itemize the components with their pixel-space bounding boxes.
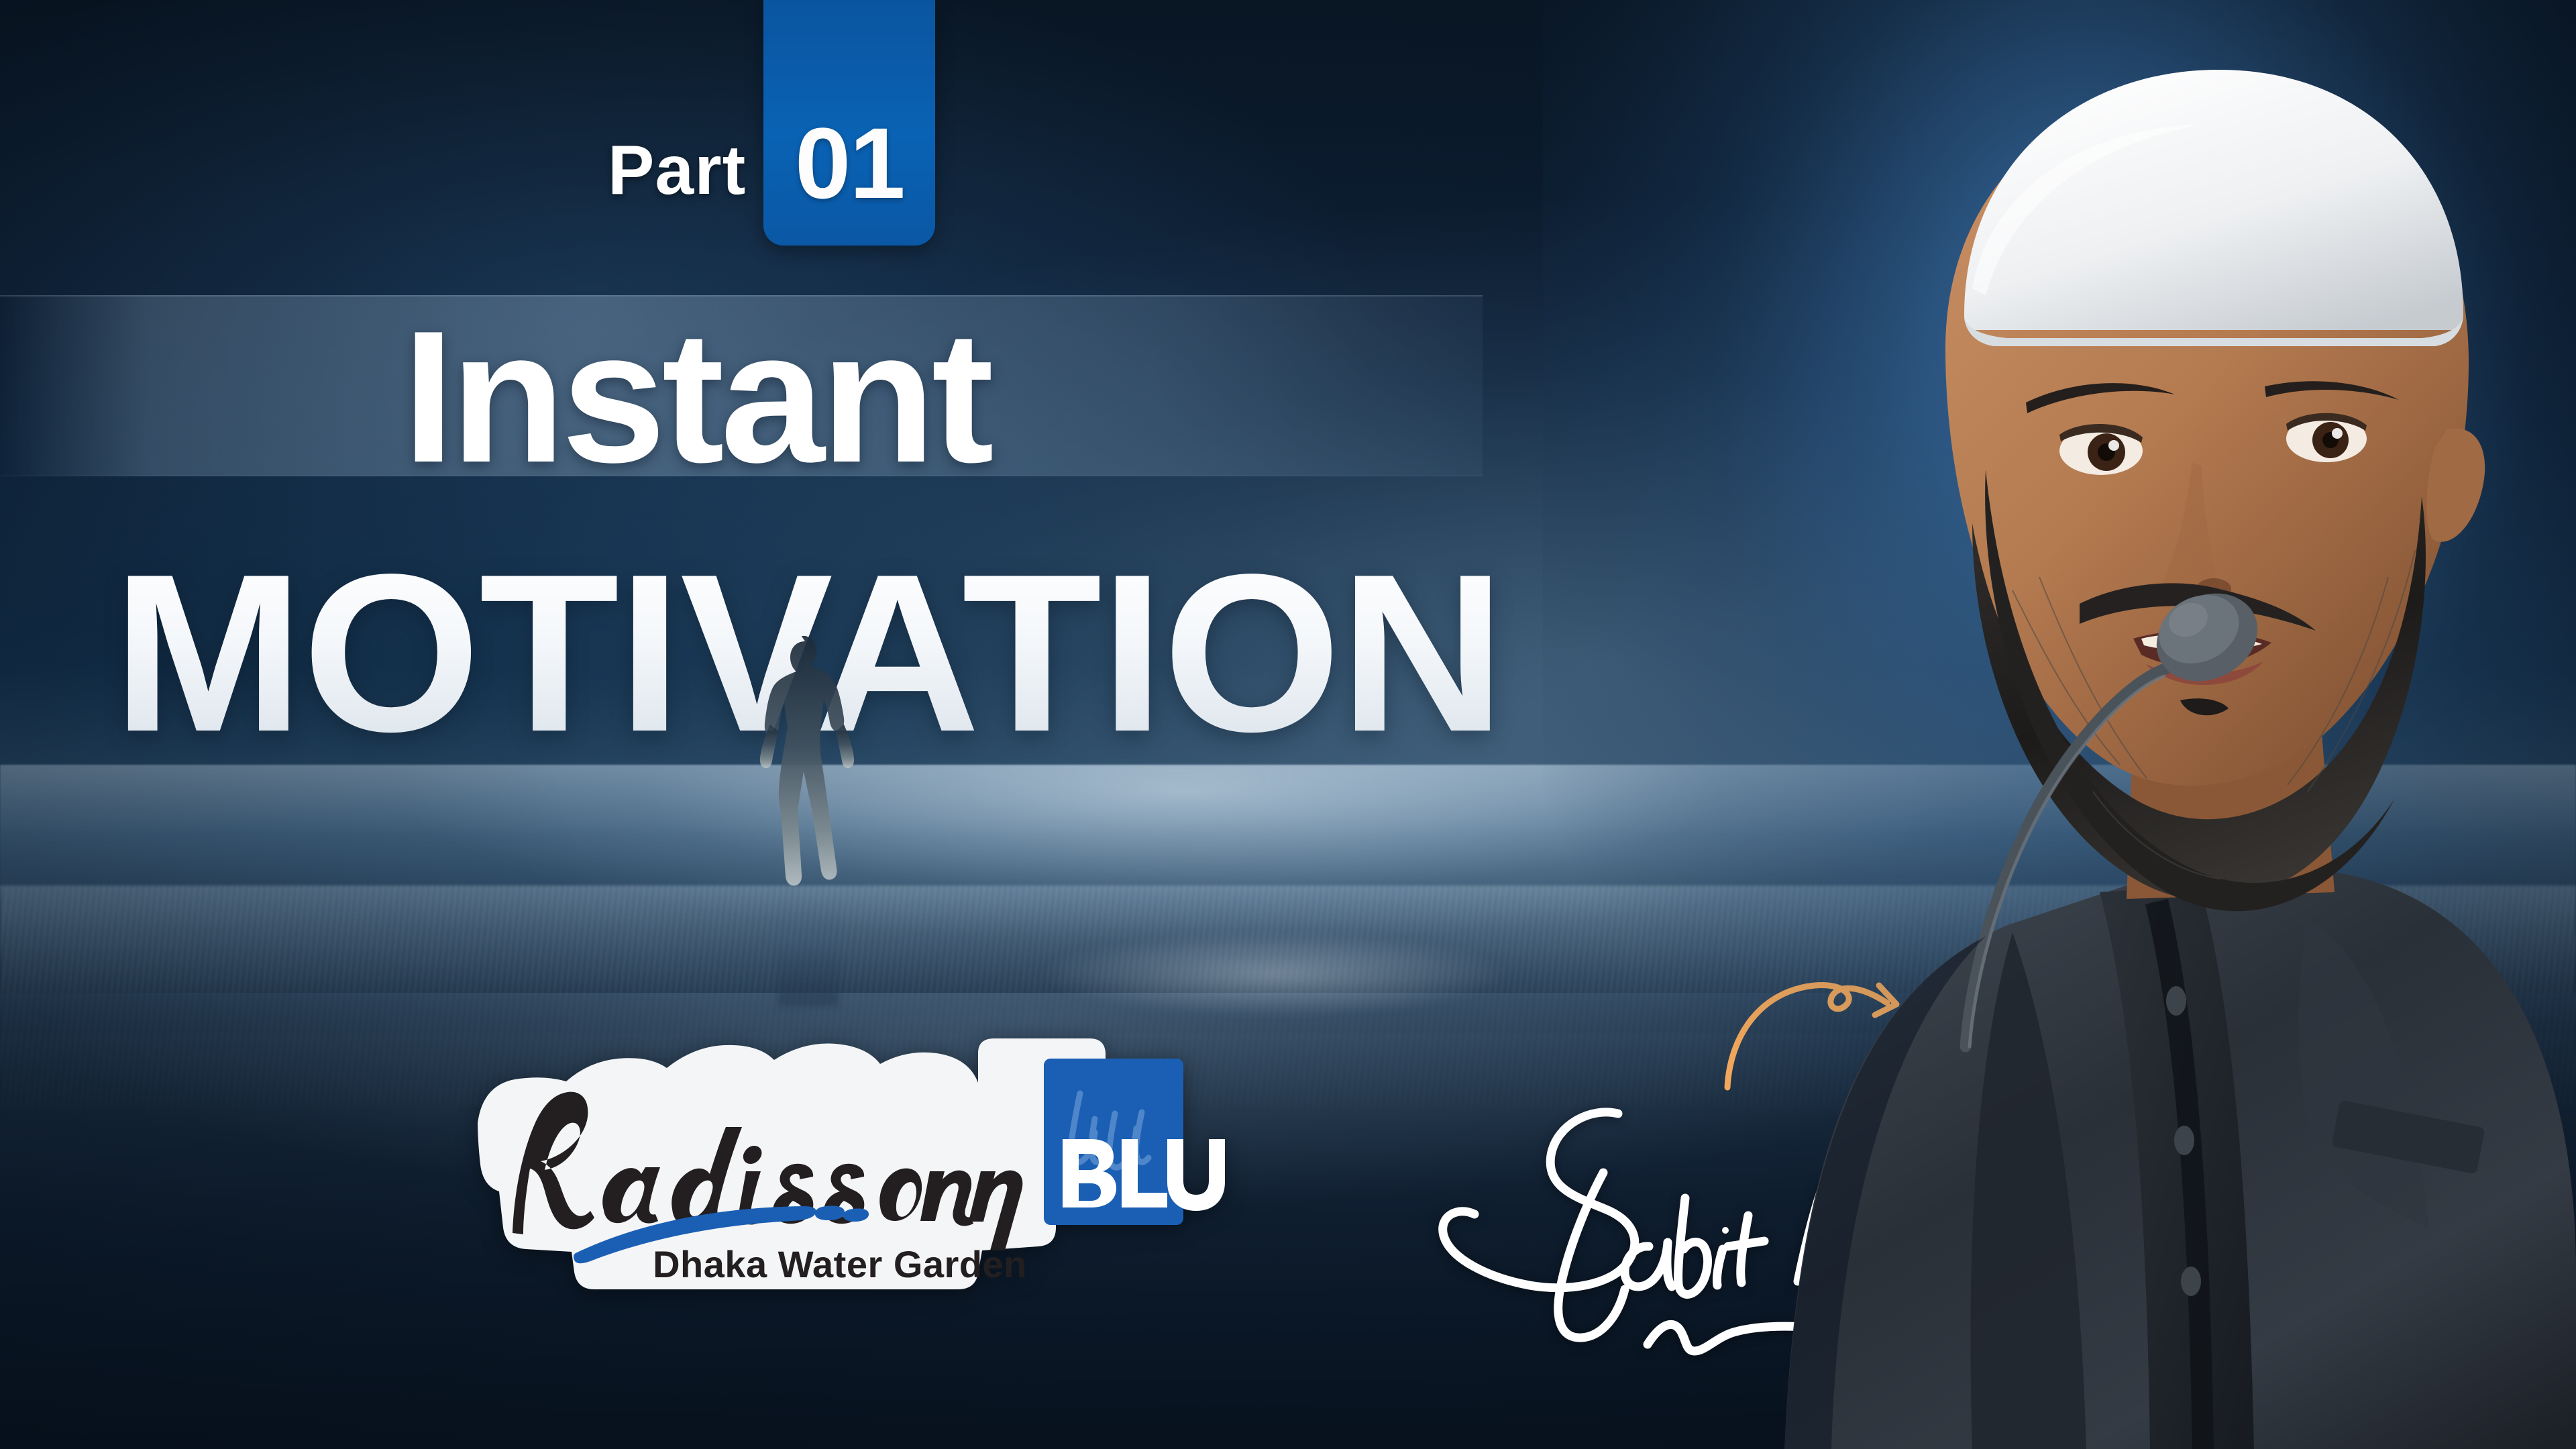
runner-silhouette-icon [730, 636, 884, 918]
speaker-portrait-image [1543, 0, 2576, 1449]
headline-primary: Instant [402, 303, 990, 491]
part-number-badge: 01 [763, 0, 935, 246]
sponsor-logo[interactable]: Dhaka Water Garden [451, 1038, 1229, 1293]
part-number: 01 [795, 113, 904, 246]
part-label: Part [608, 136, 763, 246]
part-indicator: Part 01 [608, 0, 935, 246]
sponsor-property-text: Dhaka Water Garden [653, 1243, 1027, 1285]
poster-canvas: Part 01 Instant MOTIVATION [0, 0, 2576, 1449]
